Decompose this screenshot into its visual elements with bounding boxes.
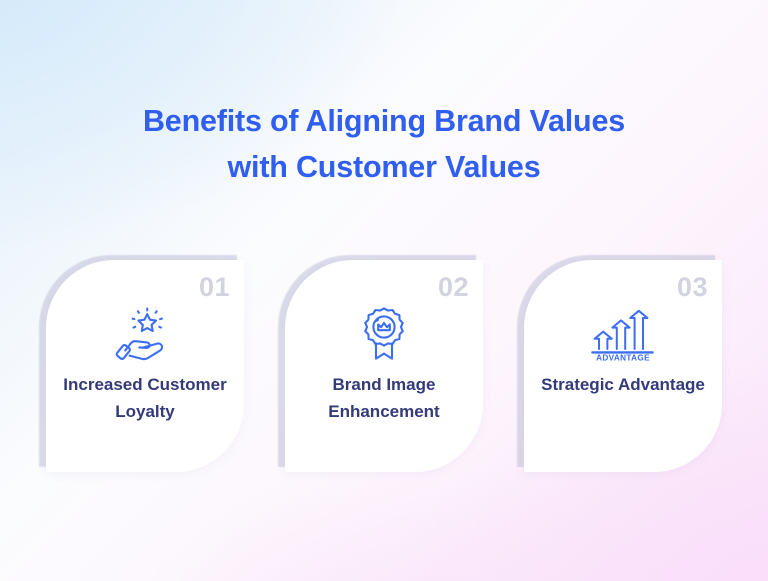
card-label-3: Strategic Advantage	[534, 372, 712, 399]
benefit-card-2[interactable]: 02	[285, 260, 483, 472]
page-title-line-1: Benefits of Aligning Brand Values	[0, 98, 768, 144]
card-number-2: 02	[438, 274, 469, 301]
card-number-3: 03	[677, 274, 708, 301]
card-number-1: 01	[199, 274, 230, 301]
advantage-caption-text: ADVANTAGE	[596, 353, 650, 362]
card-label-1: Increased Customer Loyalty	[56, 372, 234, 426]
growth-arrows-advantage-icon: ADVANTAGE	[524, 304, 722, 364]
award-badge-crown-icon	[285, 304, 483, 364]
card-face-1: 01	[46, 260, 244, 472]
hand-holding-star-icon	[46, 304, 244, 364]
page-title: Benefits of Aligning Brand Values with C…	[0, 98, 768, 191]
card-label-2: Brand Image Enhancement	[295, 372, 473, 426]
benefit-cards-row: 01	[46, 260, 722, 472]
card-face-2: 02	[285, 260, 483, 472]
card-face-3: 03 ADVANTAGE	[524, 260, 722, 472]
page-title-line-2: with Customer Values	[0, 144, 768, 190]
benefit-card-1[interactable]: 01	[46, 260, 244, 472]
infographic-canvas: Benefits of Aligning Brand Values with C…	[0, 0, 768, 581]
benefit-card-3[interactable]: 03 ADVANTAGE	[524, 260, 722, 472]
